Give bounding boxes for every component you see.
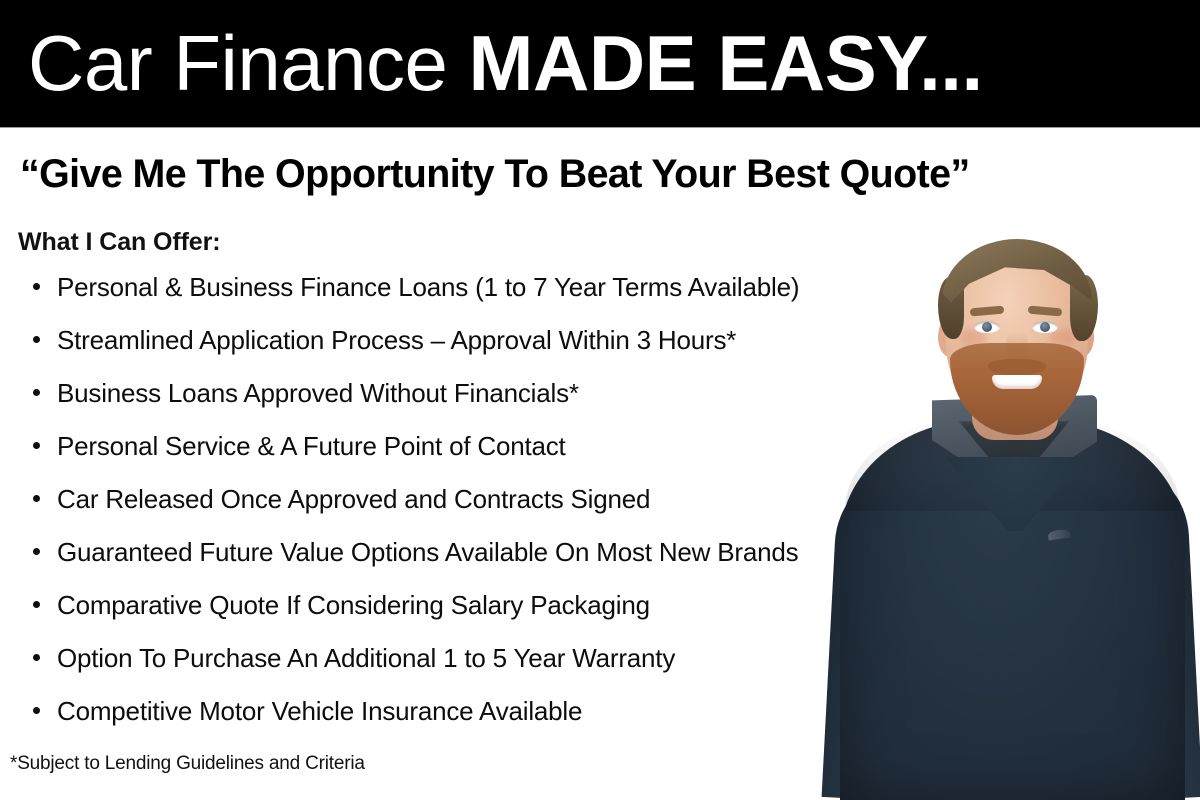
footnote-disclaimer: *Subject to Lending Guidelines and Crite… [10,753,365,775]
list-item-label: Option To Purchase An Additional 1 to 5 … [57,643,675,673]
list-item: Personal & Business Finance Loans (1 to … [0,272,880,325]
moustache [988,359,1046,375]
list-item: Personal Service & A Future Point of Con… [0,431,880,484]
list-item-label: Car Released Once Approved and Contracts… [57,484,650,514]
list-item-label: Business Loans Approved Without Financia… [57,378,579,408]
bullet-icon [33,442,40,449]
bullet-icon [33,336,40,343]
list-item: Car Released Once Approved and Contracts… [0,484,880,537]
header-banner: Car Finance MADE EASY... [0,0,1200,128]
iris-right [1040,322,1050,332]
list-item: Competitive Motor Vehicle Insurance Avai… [0,696,880,749]
bullet-icon [33,389,40,396]
poster-canvas: Car Finance MADE EASY... “Give Me The Op… [0,0,1200,800]
bullet-icon [33,707,40,714]
list-item: Business Loans Approved Without Financia… [0,378,880,431]
bullet-icon [33,495,40,502]
iris-left [982,322,992,332]
list-item: Option To Purchase An Additional 1 to 5 … [0,643,880,696]
list-item-label: Personal Service & A Future Point of Con… [57,431,566,461]
list-item-label: Comparative Quote If Considering Salary … [57,590,650,620]
banner-title: Car Finance MADE EASY... [28,17,983,109]
list-item: Comparative Quote If Considering Salary … [0,590,880,643]
bullet-icon [33,654,40,661]
list-item-label: Streamlined Application Process – Approv… [57,325,736,355]
offer-subheading: What I Can Offer: [18,228,220,257]
list-item-label: Guaranteed Future Value Options Availabl… [57,537,798,567]
offer-list: Personal & Business Finance Loans (1 to … [0,272,880,749]
bullet-icon [33,601,40,608]
headline-quote: “Give Me The Opportunity To Beat Your Be… [20,152,1163,197]
bullet-icon [33,548,40,555]
list-item-label: Competitive Motor Vehicle Insurance Avai… [57,696,582,726]
list-item: Streamlined Application Process – Approv… [0,325,880,378]
banner-title-bold: MADE EASY... [469,19,983,107]
portrait-photo [820,225,1200,800]
bullet-icon [33,283,40,290]
list-item-label: Personal & Business Finance Loans (1 to … [57,272,799,302]
mouth [992,375,1042,389]
list-item: Guaranteed Future Value Options Availabl… [0,537,880,590]
banner-title-light: Car Finance [28,19,469,107]
